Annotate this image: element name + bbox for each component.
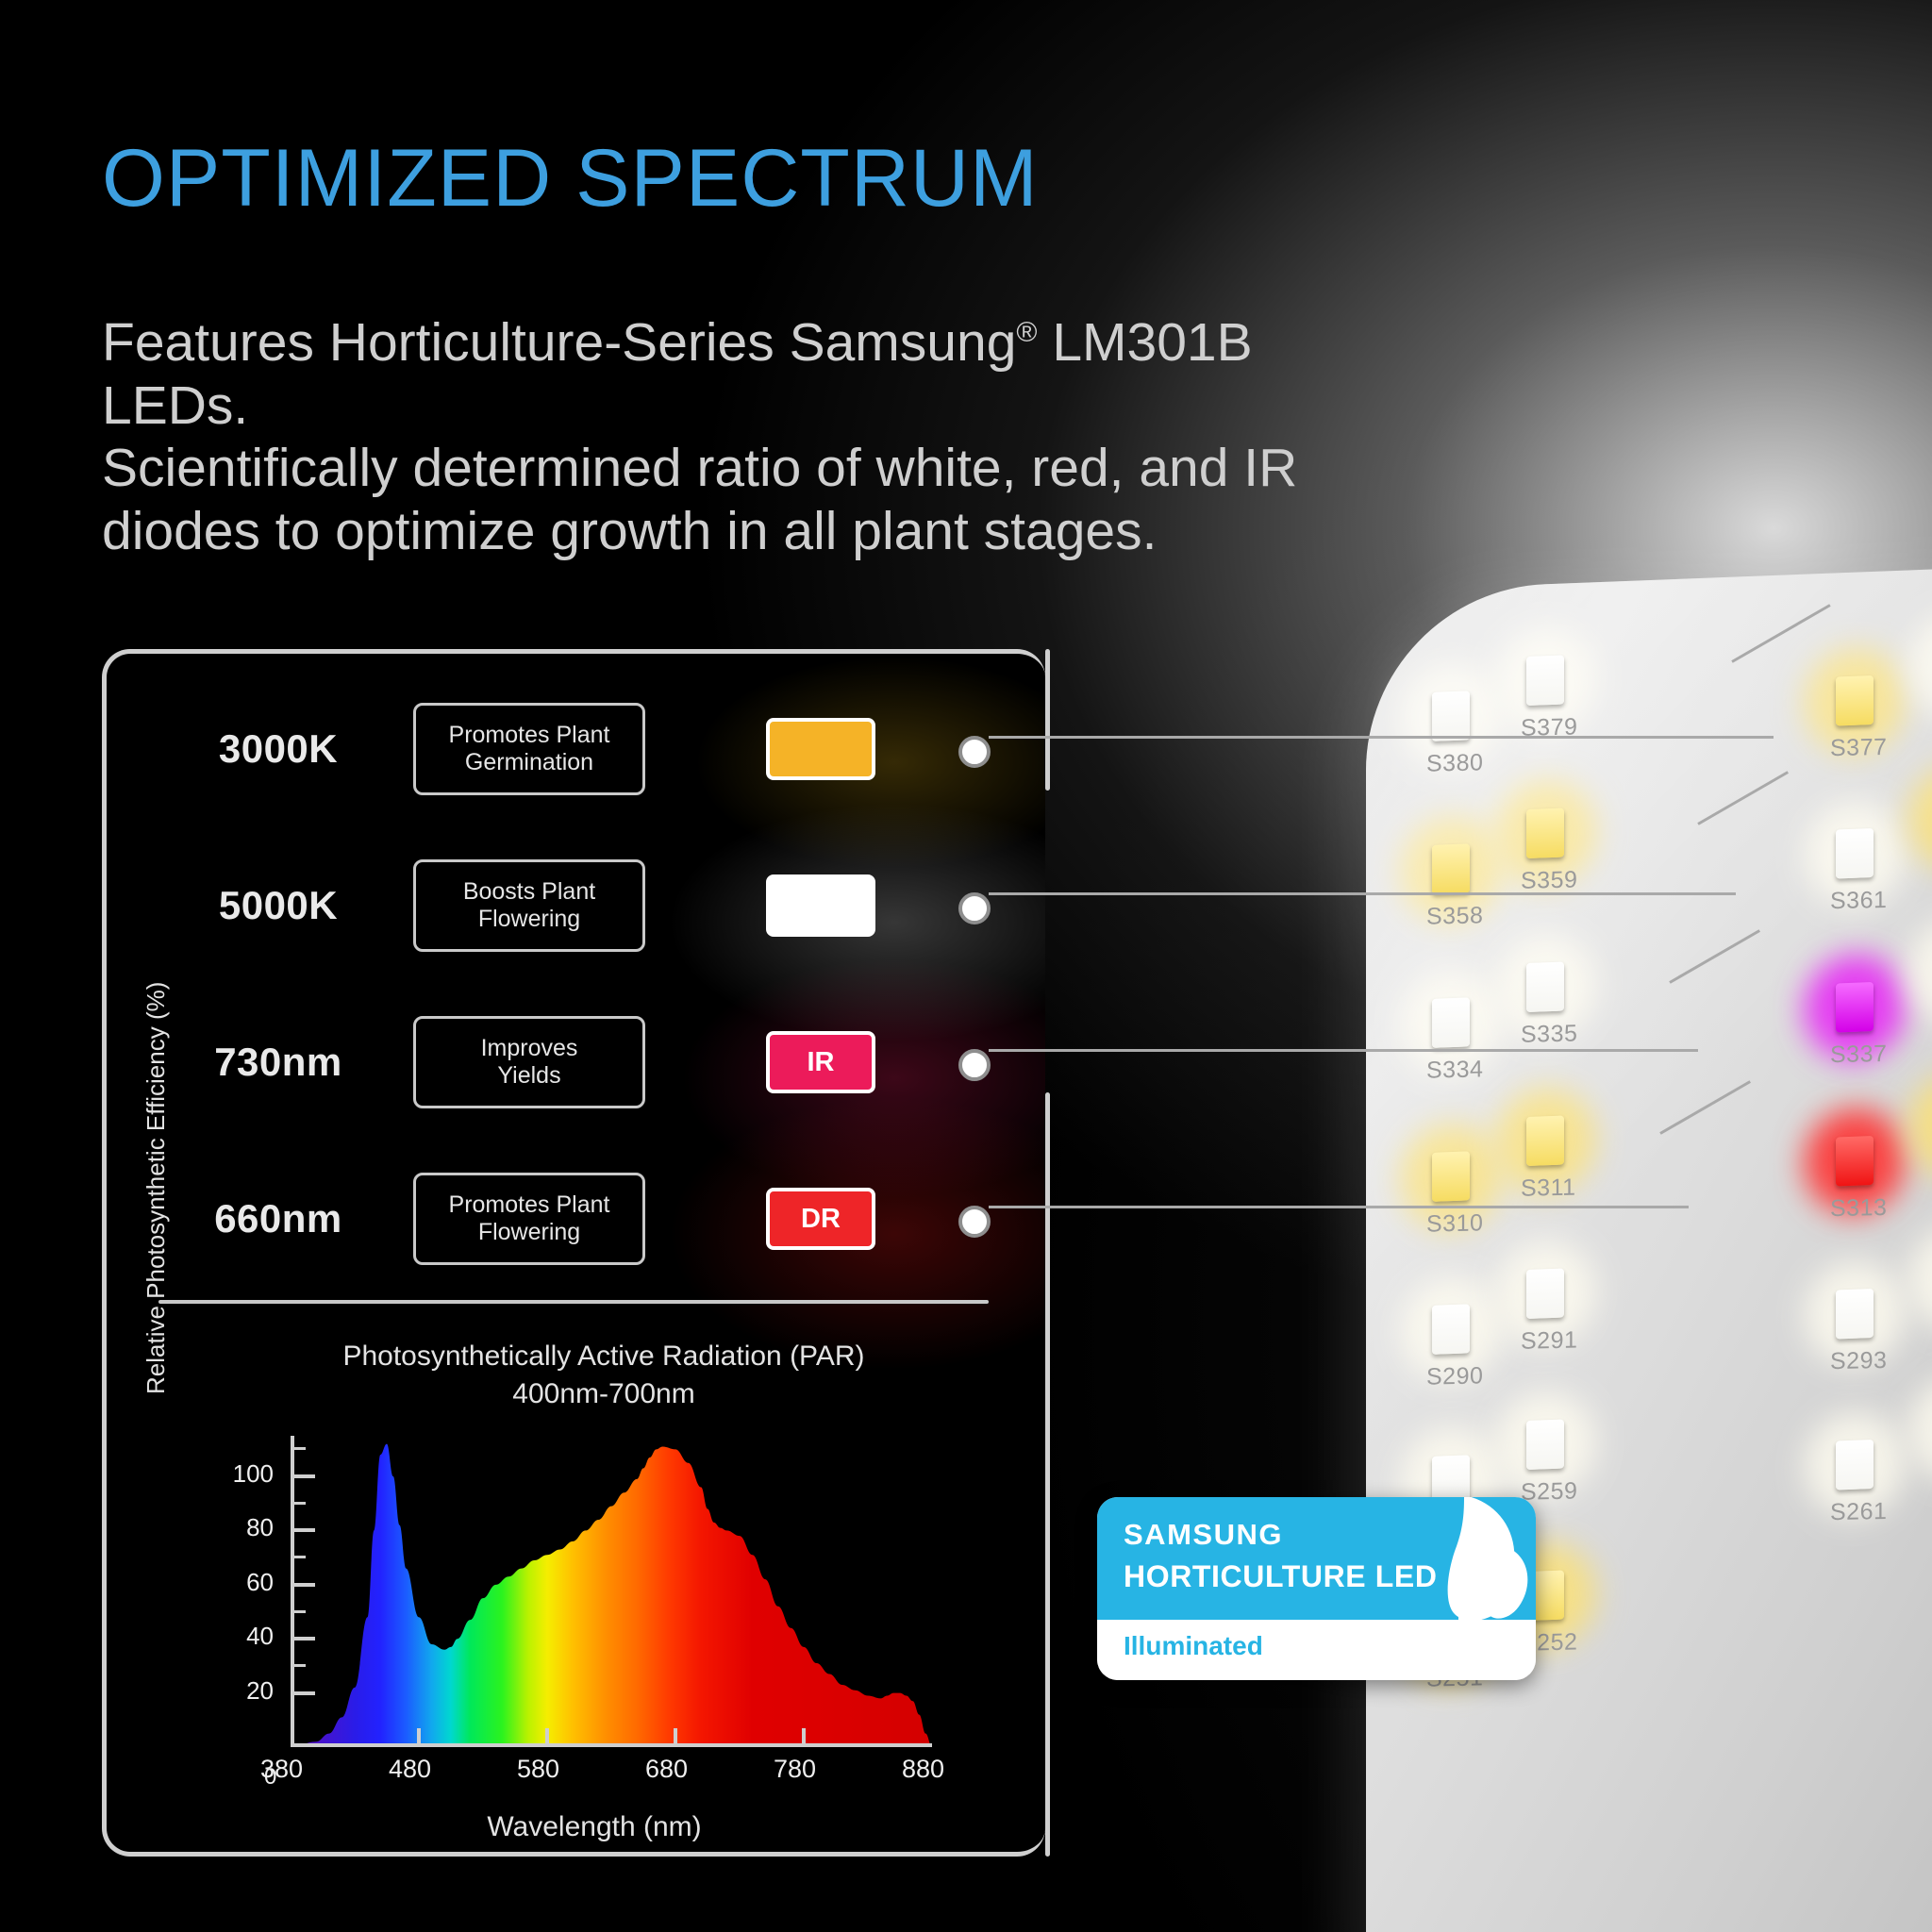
samsung-horticulture-badge: SAMSUNG HORTICULTURE LED Illuminated [1097,1497,1536,1680]
benefit-line-1: Promotes Plant [449,722,610,750]
benefit-line-2: Flowering [478,1219,580,1247]
led-swatch-wrap [736,862,906,949]
y-tick [291,1474,315,1478]
led-board: S380S379S377S376S358S359S361S362S334S335… [1366,563,1932,1932]
led-swatch [766,718,875,780]
led-cap [1432,997,1470,1048]
y-minor-tick [291,1664,306,1667]
led-diode [1432,1151,1470,1202]
led-diode [1526,808,1564,859]
spec-row: 660nmPromotes PlantFloweringDR [102,1162,1045,1275]
x-tick [802,1728,806,1747]
led-cap [1432,843,1470,894]
led-swatch [766,874,875,937]
led-label: S334 [1426,1056,1483,1084]
x-tick-label: 580 [517,1755,559,1784]
intro-line-3: diodes to optimize growth in all plant s… [102,501,1157,561]
led-cap [1526,1269,1564,1320]
led-label: S310 [1426,1209,1483,1238]
y-tick-label: 40 [208,1622,274,1651]
x-tick [417,1728,421,1747]
led-label: S313 [1830,1194,1887,1223]
led-cap [1432,1304,1470,1355]
led-label: S293 [1830,1347,1887,1375]
benefit-line-1: Improves [481,1035,578,1063]
led-cap [1526,1116,1564,1167]
callout-line [989,1049,1698,1052]
swatch-label: DR [801,1204,841,1235]
x-tick [545,1728,549,1747]
y-minor-tick [291,1447,306,1450]
spec-benefit-chip: Promotes PlantFlowering [413,1173,645,1265]
chart-x-axis-label: Wavelength (nm) [292,1811,896,1843]
led-diode [1432,1304,1470,1355]
spec-value: 660nm [160,1196,396,1241]
y-tick [291,1637,315,1641]
registered-mark: ® [1016,317,1037,348]
led-cap [1836,1136,1874,1187]
led-cap [1836,828,1874,879]
spectrum-area [291,1444,932,1747]
spec-row: 730nmImprovesYieldsIR [102,1006,1045,1119]
led-cap [1526,1420,1564,1471]
chart-title: Photosynthetically Active Radiation (PAR… [274,1338,934,1412]
benefit-line-2: Yields [497,1062,560,1091]
led-diode [1526,656,1564,707]
led-label: S335 [1521,1021,1577,1049]
y-tick [291,1583,315,1587]
x-tick-label: 880 [902,1755,944,1784]
led-label: S380 [1426,749,1483,777]
callout-dot [958,736,991,768]
y-tick-label: 60 [208,1568,274,1597]
led-diode [1836,675,1874,726]
chart-plot-area: 20406080100380480580680780880 [291,1436,932,1747]
callout-line [989,1206,1689,1208]
y-tick-label: 20 [208,1676,274,1706]
led-swatch: IR [766,1031,875,1093]
x-tick-label: 780 [774,1755,816,1784]
y-tick [291,1528,315,1532]
benefit-line-1: Boosts Plant [463,878,595,907]
led-swatch-wrap: DR [736,1175,906,1262]
promo-graphic: S380S379S377S376S358S359S361S362S334S335… [0,0,1932,1932]
page-title: OPTIMIZED SPECTRUM [102,132,1039,225]
intro-line-1a: Features Horticulture-Series Samsung [102,312,1016,373]
y-tick-label: 100 [208,1459,274,1489]
led-label: S261 [1830,1498,1887,1526]
y-tick-label: 80 [208,1513,274,1542]
spec-value: 730nm [160,1040,396,1085]
led-diode [1836,1136,1874,1187]
led-cap [1836,982,1874,1033]
chart-title-main: Photosynthetically Active Radiation (PAR… [342,1341,864,1372]
callout-dot [958,1049,991,1081]
led-diode [1526,962,1564,1013]
led-cap [1432,1151,1470,1202]
led-swatch-wrap [736,706,906,792]
led-cap [1526,656,1564,707]
led-diode [1836,828,1874,879]
benefit-line-1: Promotes Plant [449,1191,610,1220]
led-label: S311 [1521,1174,1576,1203]
chart-y-axis-label: Relative Photosynthetic Efficiency (%) [142,1017,171,1394]
y-tick [291,1691,315,1695]
y-axis-line [291,1436,294,1747]
led-label: S361 [1830,887,1887,915]
led-diode [1526,1116,1564,1167]
callout-dot [958,1206,991,1238]
callout-dot [958,892,991,924]
spectrum-card: 3000KPromotes PlantGermination5000KBoost… [102,649,1045,1857]
led-diode [1432,997,1470,1048]
led-cap [1836,1289,1874,1340]
x-tick-label: 480 [389,1755,431,1784]
led-cap [1836,1440,1874,1491]
led-cap [1836,675,1874,726]
led-label: S337 [1830,1041,1887,1069]
benefit-line-2: Germination [465,749,593,777]
led-label: S359 [1521,867,1577,895]
led-swatch: DR [766,1188,875,1250]
led-diode [1526,1269,1564,1320]
led-diode [1432,691,1470,741]
spec-benefit-chip: Promotes PlantGermination [413,703,645,795]
callout-line [989,892,1736,895]
led-diode [1836,1440,1874,1491]
card-divider [158,1300,989,1304]
x-axis-line [291,1743,932,1747]
spec-benefit-chip: ImprovesYields [413,1016,645,1108]
led-label: S358 [1426,902,1483,930]
spec-row: 5000KBoosts PlantFlowering [102,849,1045,962]
led-label: S291 [1521,1327,1577,1356]
y-minor-tick [291,1556,306,1558]
spec-benefit-chip: Boosts PlantFlowering [413,859,645,952]
par-chart: Photosynthetically Active Radiation (PAR… [151,1338,1009,1838]
y-minor-tick [291,1502,306,1505]
x-tick-label: 680 [645,1755,688,1784]
led-cap [1526,962,1564,1013]
chart-origin-label: 0 [264,1764,276,1790]
led-label: S377 [1830,734,1887,762]
intro-paragraph: Features Horticulture-Series Samsung® LM… [102,311,1347,563]
benefit-line-2: Flowering [478,906,580,934]
led-cap [1432,691,1470,741]
led-cap [1526,808,1564,859]
led-diode [1526,1420,1564,1471]
x-tick [674,1728,677,1747]
led-diode [1836,982,1874,1033]
led-diode [1432,843,1470,894]
callout-line [989,736,1774,739]
badge-brand: SAMSUNG [1124,1518,1283,1552]
led-swatch-wrap: IR [736,1019,906,1106]
badge-status: Illuminated [1124,1631,1263,1661]
led-label: S290 [1426,1362,1483,1391]
spec-row: 3000KPromotes PlantGermination [102,692,1045,806]
swatch-label: IR [808,1047,835,1078]
spec-value: 5000K [160,883,396,928]
intro-line-2: Scientifically determined ratio of white… [102,438,1297,498]
chart-subtitle: 400nm-700nm [512,1378,694,1409]
spectrum-curve [291,1436,932,1747]
spec-value: 3000K [160,726,396,772]
led-diode [1836,1289,1874,1340]
leaf-icon [1353,1497,1532,1633]
y-minor-tick [291,1610,306,1613]
